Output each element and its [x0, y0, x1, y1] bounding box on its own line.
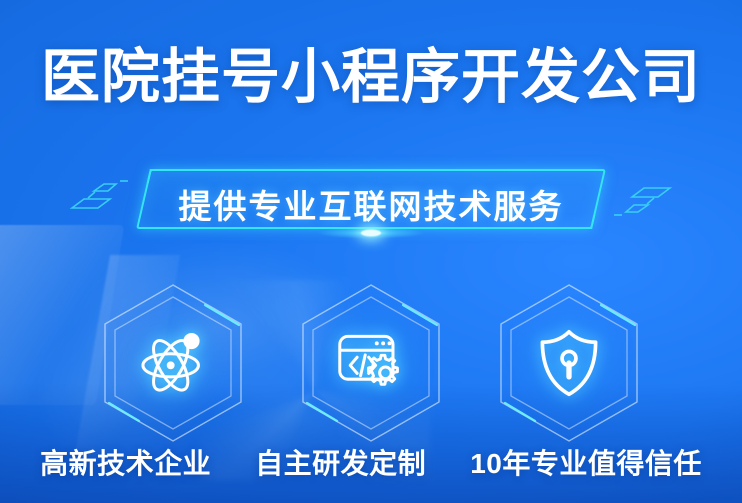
- feature-hexagon-1: [93, 283, 253, 443]
- feature-hexagon-3: [489, 283, 649, 443]
- subtitle-text: 提供专业互联网技术服务: [0, 180, 742, 228]
- feature-label-3: 10年专业值得信任: [470, 442, 702, 482]
- atom-icon: [136, 326, 210, 400]
- feature-label-row: 高新技术企业 自主研发定制 10年专业值得信任: [0, 442, 742, 482]
- feature-label-1: 高新技术企业: [40, 442, 211, 482]
- page-title: 医院挂号小程序开发公司: [0, 46, 742, 110]
- feature-icon-row: [0, 283, 742, 443]
- feature-label-2: 自主研发定制: [255, 442, 426, 482]
- promo-banner: 医院挂号小程序开发公司 提供专业互联网技术服务: [0, 0, 742, 503]
- subtitle-banner: 提供专业互联网技术服务: [0, 163, 742, 235]
- code-window-gear-icon: [334, 326, 408, 400]
- lens-flare-glow-icon: [296, 225, 446, 241]
- feature-hexagon-2: [291, 283, 451, 443]
- shield-lock-icon: [532, 326, 606, 400]
